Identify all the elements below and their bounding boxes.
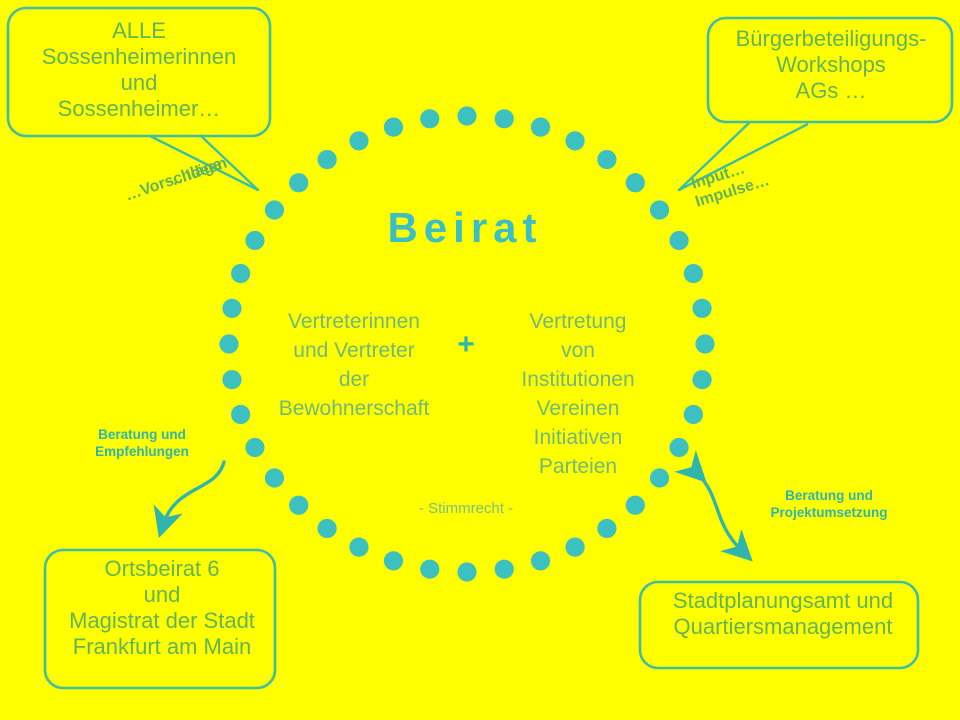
callout-box-bottom-left[interactable] [45, 550, 275, 688]
ring-dot [457, 562, 476, 581]
callout-box-top-left-frame [8, 8, 270, 136]
ring-dot [597, 519, 616, 538]
ring-dot [597, 150, 616, 169]
ring-dot [565, 131, 584, 150]
ring-dot [349, 538, 368, 557]
ring-dot [219, 334, 238, 353]
ring-dot [318, 150, 337, 169]
ring-dot [384, 118, 403, 137]
ring-dot [289, 173, 308, 192]
ring-dot [684, 264, 703, 283]
ring-dot [384, 551, 403, 570]
arrow-beratung-empfehlungen [163, 462, 224, 525]
ring-dot [626, 173, 645, 192]
ring-dot [495, 560, 514, 579]
dotted-circle-ring [219, 106, 714, 581]
ring-dot [420, 560, 439, 579]
callout-box-bottom-right-frame [640, 582, 918, 668]
ring-dot [650, 200, 669, 219]
arrow-beratung-projektumsetzung [697, 473, 743, 552]
ring-dot [231, 405, 250, 424]
diagram-vector-layer [0, 0, 960, 720]
ring-dot [531, 118, 550, 137]
ring-dot [684, 405, 703, 424]
ring-dot [318, 519, 337, 538]
callout-box-top-left[interactable] [8, 8, 270, 190]
ring-dot [565, 538, 584, 557]
callout-box-bottom-left-frame [45, 550, 275, 688]
callout-box-top-right-frame [708, 18, 952, 122]
ring-dot [231, 264, 250, 283]
ring-dot [626, 496, 645, 515]
ring-dot [245, 438, 264, 457]
ring-dot [692, 370, 711, 389]
callout-box-bottom-right[interactable] [640, 582, 918, 668]
callout-box-top-right[interactable] [679, 18, 952, 190]
callout-tail-top-left [150, 135, 258, 190]
ring-dot [669, 231, 688, 250]
ring-dot [531, 551, 550, 570]
ring-dot [265, 468, 284, 487]
ring-dot [265, 200, 284, 219]
ring-dot [222, 299, 241, 318]
ring-dot [349, 131, 368, 150]
callout-tail-top-right [679, 122, 808, 190]
ring-dot [695, 334, 714, 353]
ring-dot [289, 496, 308, 515]
ring-dot [457, 106, 476, 125]
ring-dot [222, 370, 241, 389]
ring-dot [650, 468, 669, 487]
ring-dot [420, 109, 439, 128]
ring-dot [495, 109, 514, 128]
diagram-canvas: ALLESossenheimerinnenundSossenheimer… Bü… [0, 0, 960, 720]
ring-dot [245, 231, 264, 250]
ring-dot [692, 299, 711, 318]
ring-dot [669, 438, 688, 457]
